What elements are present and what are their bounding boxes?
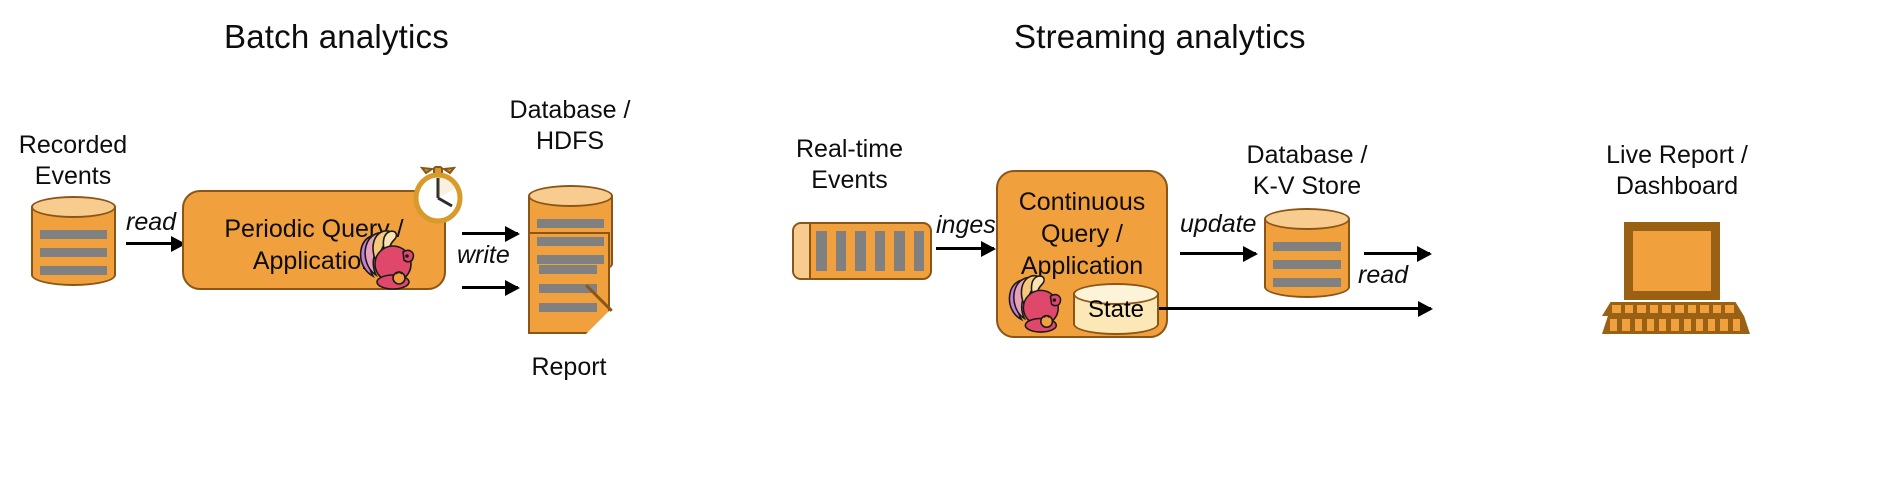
streaming-state-to-dashboard-arrow (1159, 307, 1431, 310)
laptop-screen (1624, 222, 1720, 300)
recorded-events-label: Recorded Events (18, 130, 128, 192)
flink-squirrel-icon-batch (355, 228, 419, 290)
streaming-ingest-edge-label: ingest (936, 211, 1003, 240)
streaming-analytics-title: Streaming analytics (1014, 18, 1306, 56)
laptop-keyboard-row2 (1610, 319, 1740, 331)
state-cylinder-icon: State (1073, 283, 1159, 335)
continuous-query-line1: Continuous (998, 186, 1166, 218)
recorded-events-label-line2: Events (18, 161, 128, 192)
stream-cap (793, 223, 811, 279)
batch-database-hdfs-label: Database / HDFS (506, 95, 634, 157)
continuous-query-line2: Query / (998, 218, 1166, 250)
batch-database-hdfs-line2: HDFS (506, 126, 634, 157)
cylinder-rows (1273, 242, 1340, 296)
recorded-events-label-line1: Recorded (18, 130, 128, 161)
live-report-dashboard-line1: Live Report / (1597, 140, 1757, 171)
realtime-events-label-line1: Real-time (792, 134, 907, 165)
batch-read-edge-label: read (126, 208, 176, 237)
batch-write-arrow-report (462, 286, 518, 289)
batch-read-arrow (126, 242, 184, 245)
streaming-update-arrow (1180, 252, 1256, 255)
batch-report-label: Report (528, 352, 610, 383)
cylinder-top (31, 196, 116, 218)
streaming-database-kv-line1: Database / (1243, 140, 1371, 171)
event-stream-icon (792, 222, 932, 280)
streaming-db-to-dashboard-arrow (1364, 252, 1430, 255)
batch-database-cylinder-icon (528, 185, 613, 275)
streaming-database-cylinder-icon (1264, 208, 1350, 298)
stopwatch-icon (410, 166, 466, 224)
streaming-database-kv-line2: K-V Store (1243, 171, 1371, 202)
streaming-database-kv-label: Database / K-V Store (1243, 140, 1371, 202)
diagram-canvas: Batch analytics Streaming analytics Reco… (0, 0, 1882, 486)
flink-squirrel-icon-streaming (1004, 272, 1066, 334)
realtime-events-label-line2: Events (792, 165, 907, 196)
recorded-events-database-cylinder-icon (31, 196, 116, 286)
laptop-keyboard-row1 (1612, 305, 1734, 313)
live-report-dashboard-label: Live Report / Dashboard (1597, 140, 1757, 202)
batch-analytics-title: Batch analytics (224, 18, 449, 56)
streaming-update-edge-label: update (1180, 210, 1256, 239)
batch-write-arrow-db (462, 232, 518, 235)
streaming-ingest-arrow (936, 247, 994, 250)
cylinder-rows (537, 219, 603, 273)
cylinder-top (528, 185, 613, 207)
document-fold (585, 309, 611, 335)
state-label: State (1073, 296, 1159, 324)
realtime-events-label: Real-time Events (792, 134, 907, 196)
batch-write-edge-label: write (457, 241, 510, 270)
streaming-read-edge-label: read (1358, 261, 1408, 290)
cylinder-top (1264, 208, 1350, 230)
batch-database-hdfs-line1: Database / (506, 95, 634, 126)
stream-events (816, 231, 924, 271)
live-report-dashboard-line2: Dashboard (1597, 171, 1757, 202)
cylinder-rows (40, 230, 106, 284)
